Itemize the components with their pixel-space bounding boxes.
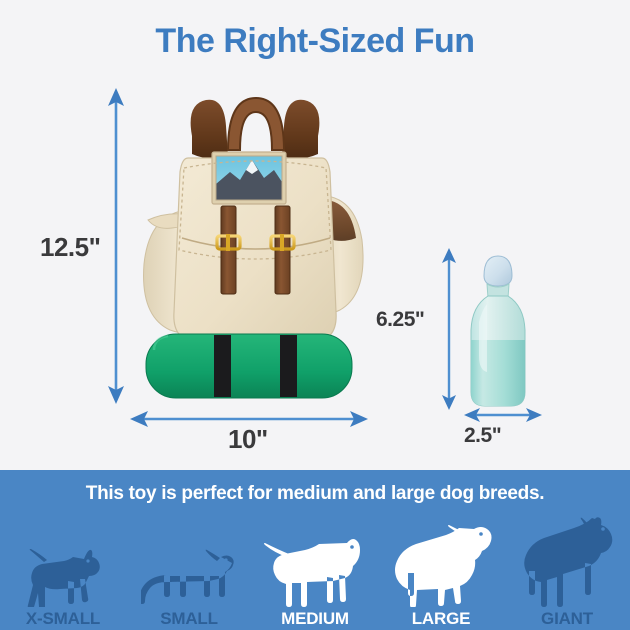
backpack-right-strap <box>282 100 319 159</box>
size-label-medium: MEDIUM <box>281 608 349 630</box>
size-item-medium[interactable]: MEDIUM <box>253 512 377 630</box>
backpack-plush-toy <box>140 88 370 404</box>
water-bottle-plush-toy <box>462 248 534 410</box>
bedroll <box>146 334 352 398</box>
size-label-x-small: X-SMALL <box>26 608 100 630</box>
backpack-height-label: 12.5" <box>40 232 100 263</box>
backpack-left-strap <box>191 100 228 159</box>
backpack-carry-handle <box>228 98 284 150</box>
infographic-page: The Right-Sized Fun <box>0 0 630 630</box>
size-label-large: LARGE <box>412 608 471 630</box>
page-title: The Right-Sized Fun <box>0 22 630 61</box>
bottle-width-label: 2.5" <box>464 424 501 448</box>
bedroll-strap-right <box>280 335 297 397</box>
bedroll-strap-left <box>214 335 231 397</box>
size-item-large[interactable]: LARGE <box>379 512 503 630</box>
size-item-giant[interactable]: GIANT <box>505 512 629 630</box>
size-item-small[interactable]: SMALL <box>127 512 251 630</box>
size-label-small: SMALL <box>160 608 218 630</box>
dog-size-banner: This toy is perfect for medium and large… <box>0 470 630 630</box>
bottle-height-label: 6.25" <box>376 308 424 332</box>
backpack-width-label: 10" <box>228 424 268 455</box>
size-item-x-small[interactable]: X-SMALL <box>1 512 125 630</box>
bottle-height-arrow <box>440 248 458 410</box>
size-label-giant: GIANT <box>541 608 593 630</box>
golden-retriever-silhouette-icon <box>386 523 496 607</box>
banner-headline: This toy is perfect for medium and large… <box>0 483 630 505</box>
bull-terrier-silhouette-icon <box>263 523 367 607</box>
bottle-cap <box>484 256 512 286</box>
chihuahua-silhouette-icon <box>22 523 104 607</box>
great-dane-silhouette-icon <box>511 523 623 607</box>
bottle-width-arrow <box>464 405 542 425</box>
mountain-patch-icon <box>212 152 286 204</box>
backpack-height-arrow <box>105 88 127 404</box>
bottle-illustration <box>462 248 534 410</box>
dog-size-row: X-SMALL SMALL <box>0 512 630 630</box>
dachshund-silhouette-icon <box>141 523 237 607</box>
backpack-illustration <box>140 88 370 404</box>
